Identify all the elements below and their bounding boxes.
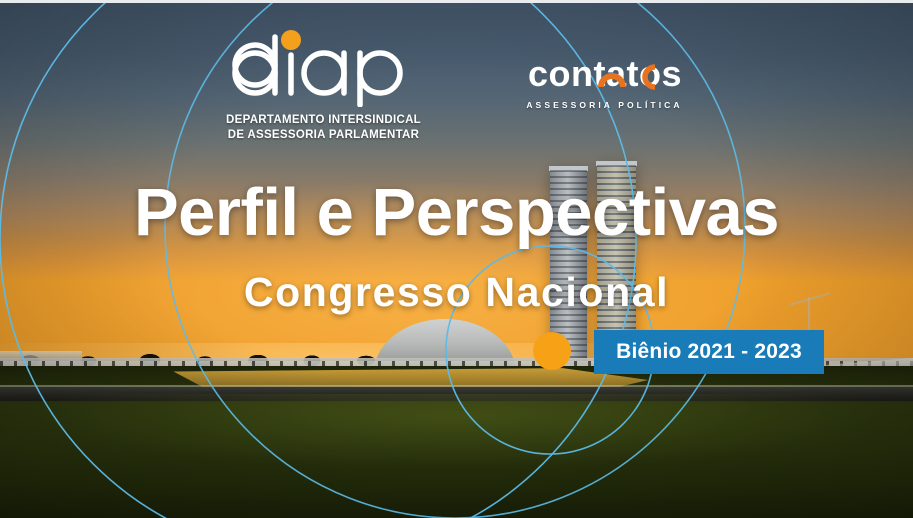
slide-title: Perfil e Perspectivas [0,179,913,246]
biennium-badge-label: Biênio 2021 - 2023 [616,340,802,364]
svg-text:contatos: contatos [527,53,681,94]
diap-tagline-line2: DE ASSESSORIA PARLAMENTAR [204,128,444,143]
logo-row: DEPARTAMENTO INTERSINDICAL DE ASSESSORIA… [0,27,913,142]
diap-wordmark-icon [229,27,419,107]
contatos-tagline: ASSESSORIA POLÍTICA [500,100,710,110]
diap-tagline: DEPARTAMENTO INTERSINDICAL DE ASSESSORIA… [204,113,444,142]
diap-logo[interactable]: DEPARTAMENTO INTERSINDICAL DE ASSESSORIA… [204,27,444,142]
diap-tagline-line1: DEPARTAMENTO INTERSINDICAL [204,113,444,128]
orange-accent-dot-icon [533,332,571,370]
contatos-logo[interactable]: contatos ASSESSORIA POLÍTICA [500,27,710,110]
contatos-wordmark-icon: contatos [505,53,705,97]
presentation-slide: DEPARTAMENTO INTERSINDICAL DE ASSESSORIA… [0,0,913,518]
diap-orange-dot-icon [281,30,301,50]
slide-subtitle: Congresso Nacional [0,272,913,313]
biennium-badge: Biênio 2021 - 2023 [594,330,824,374]
